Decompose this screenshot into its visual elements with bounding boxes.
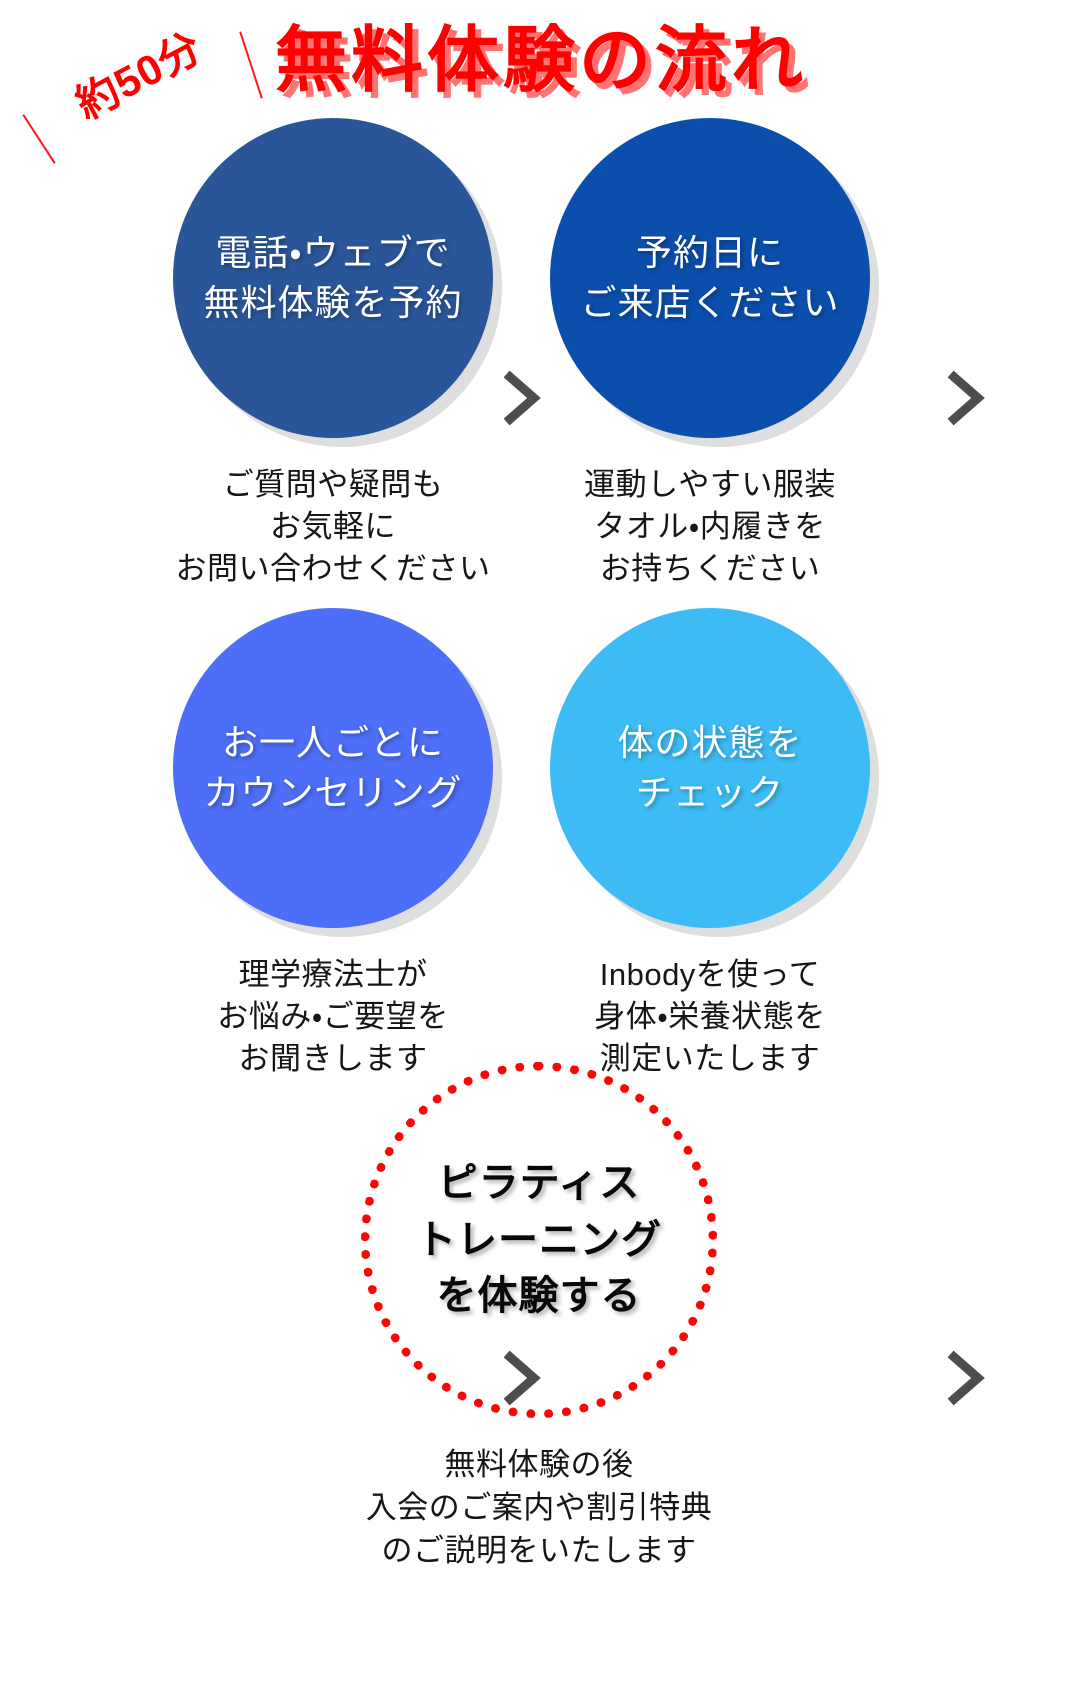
badge-slash-right-decoration bbox=[239, 31, 263, 98]
final-step-caption: 無料体験の後 入会のご案内や割引特典 のご説明をいたします bbox=[0, 1444, 1078, 1572]
step-2[interactable]: 予約日に ご来店ください 運動しやすい服装 タオル・内履きを お持ちください bbox=[545, 118, 875, 590]
step-4-circle-label: 体の状態を チェック bbox=[609, 718, 810, 817]
duration-badge: 約50分 bbox=[64, 14, 212, 131]
chevron-right-icon bbox=[944, 370, 988, 426]
page-title: 無料体験の流れ bbox=[275, 24, 875, 100]
step-2-circle-label: 予約日に ご来店ください bbox=[572, 228, 847, 327]
chevron-right-icon bbox=[500, 370, 544, 426]
final-step-circle-label: ピラティス トレーニング を体験する bbox=[416, 1155, 662, 1325]
step-1-circle-label: 電話・ウェブで 無料体験を予約 bbox=[195, 228, 470, 327]
step-row-2: お一人ごとに カウンセリング 理学療法士が お悩み・ご要望を お聞きします 体の… bbox=[0, 608, 1078, 1068]
free-trial-flow-infographic: 約50分 無料体験の流れ 電話・ウェブで 無料体験を予約 ご質問や疑問も お気軽… bbox=[0, 0, 1078, 1689]
step-4-circle[interactable]: 体の状態を チェック bbox=[550, 608, 870, 928]
final-step-circle[interactable]: ピラティス トレーニング を体験する bbox=[361, 1062, 717, 1418]
step-3-circle[interactable]: お一人ごとに カウンセリング bbox=[173, 608, 493, 928]
step-3-circle-label: お一人ごとに カウンセリング bbox=[195, 718, 470, 817]
step-1-caption: ご質問や疑問も お気軽に お問い合わせください bbox=[168, 464, 498, 590]
step-1-circle[interactable]: 電話・ウェブで 無料体験を予約 bbox=[173, 118, 493, 438]
step-4[interactable]: 体の状態を チェック Inbodyを使って 身体・栄養状態を 測定いたします bbox=[545, 608, 875, 1080]
final-step[interactable]: ピラティス トレーニング を体験する 無料体験の後 入会のご案内や割引特典 のご… bbox=[0, 1062, 1078, 1572]
step-1[interactable]: 電話・ウェブで 無料体験を予約 ご質問や疑問も お気軽に お問い合わせください bbox=[168, 118, 498, 590]
step-3[interactable]: お一人ごとに カウンセリング 理学療法士が お悩み・ご要望を お聞きします bbox=[168, 608, 498, 1080]
step-2-circle[interactable]: 予約日に ご来店ください bbox=[550, 118, 870, 438]
step-row-1: 電話・ウェブで 無料体験を予約 ご質問や疑問も お気軽に お問い合わせください … bbox=[0, 118, 1078, 588]
step-2-caption: 運動しやすい服装 タオル・内履きを お持ちください bbox=[545, 464, 875, 590]
